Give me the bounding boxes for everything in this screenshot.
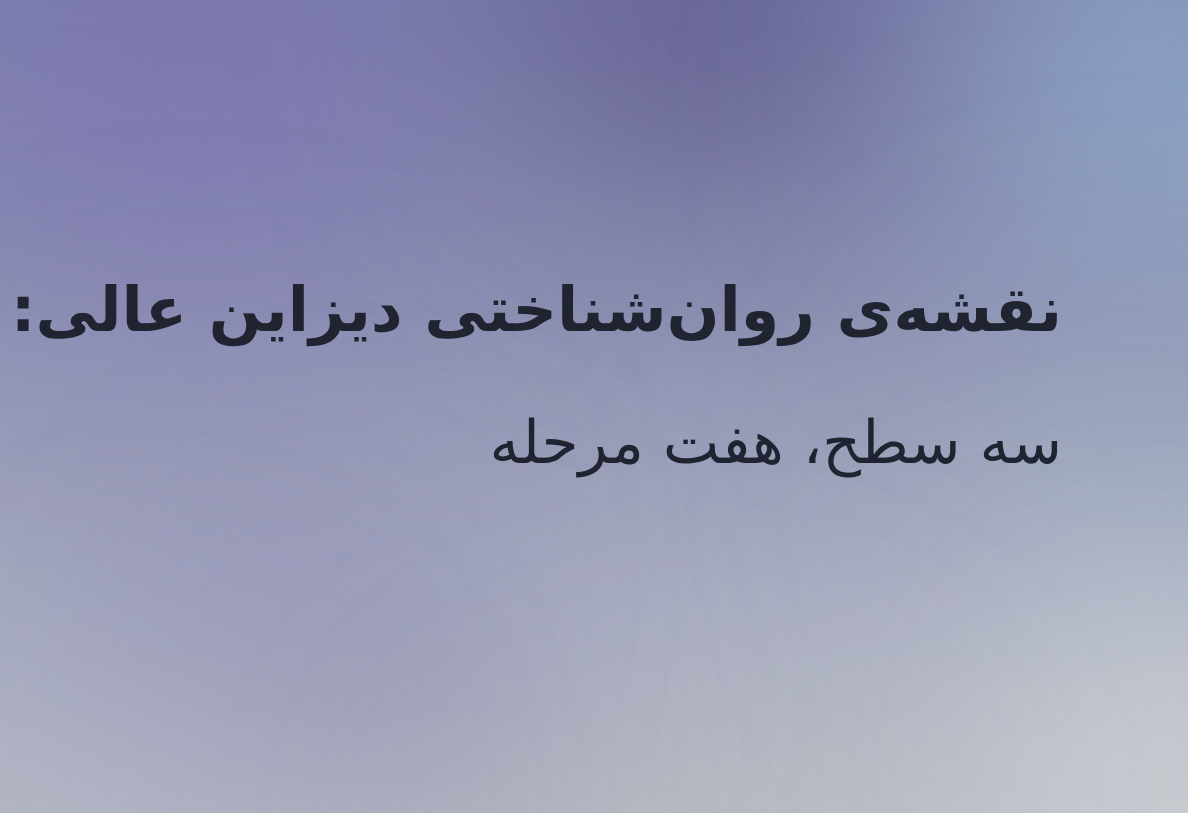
title-slide: نقشه‌ی روان‌شناختی دیزاین عالی: سه سطح، … bbox=[0, 0, 1188, 813]
slide-title-line-2: سه سطح، هفت مرحله bbox=[126, 403, 1062, 483]
slide-title-block: نقشه‌ی روان‌شناختی دیزاین عالی: سه سطح، … bbox=[126, 268, 1062, 483]
slide-title-line-1: نقشه‌ی روان‌شناختی دیزاین عالی: bbox=[126, 268, 1062, 351]
